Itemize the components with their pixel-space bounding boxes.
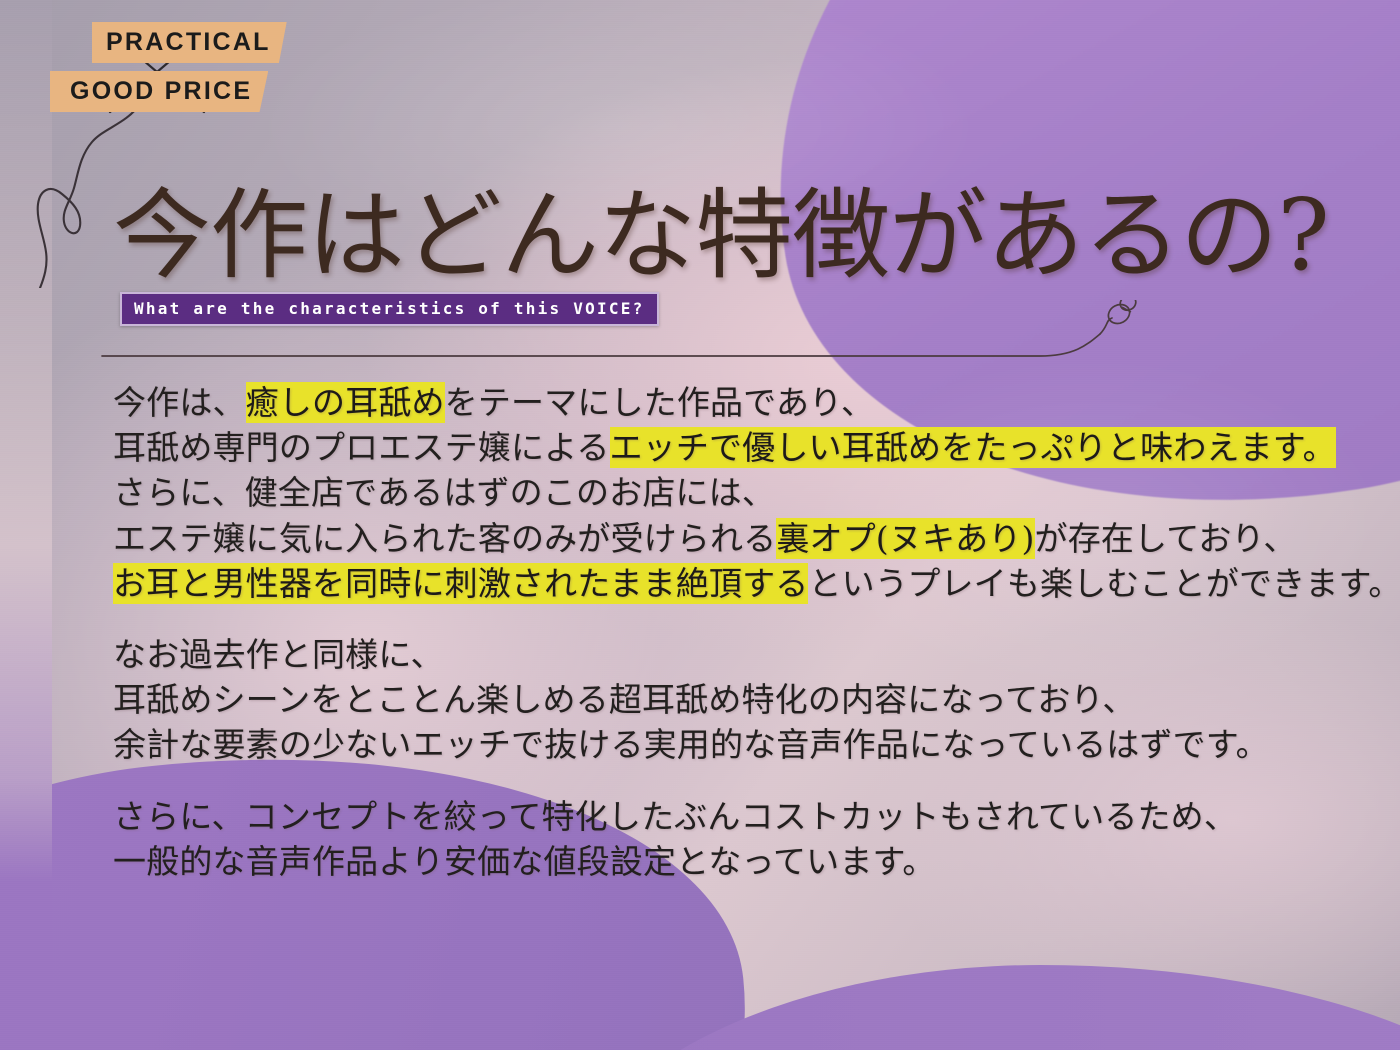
text-line: お耳と男性器を同時に刺激されたまま絶頂するというプレイも楽しむことができます。: [113, 561, 1383, 606]
text-line: さらに、健全店であるはずのこのお店には、: [113, 470, 1383, 515]
paragraph: さらに、コンセプトを絞って特化したぶんコストカットもされているため、一般的な音声…: [113, 794, 1383, 884]
highlighted-text: エッチで優しい耳舐めをたっぷりと味わえます。: [610, 427, 1336, 468]
plain-text: 余計な要素の少ないエッチで抜ける実用的な音声作品になっているはずです。: [113, 725, 1269, 764]
highlighted-text: 癒しの耳舐め: [246, 382, 445, 423]
page-title: 今作はどんな特徴があるの?: [113, 186, 1329, 288]
text-line: 耳舐めシーンをとことん楽しめる超耳舐め特化の内容になっており、: [113, 677, 1383, 722]
highlighted-text: お耳と男性器を同時に刺激されたまま絶頂する: [113, 563, 808, 604]
badge-good-price-label: GOOD PRICE: [50, 71, 268, 112]
badge-good-price: GOOD PRICE: [50, 71, 268, 112]
plain-text: 耳舐め専門のプロエステ嬢による: [113, 428, 610, 467]
plain-text: 耳舐めシーンをとことん楽しめる超耳舐め特化の内容になっており、: [113, 680, 1136, 719]
plain-text: をテーマにした作品であり、: [445, 383, 875, 422]
text-line: 耳舐め専門のプロエステ嬢によるエッチで優しい耳舐めをたっぷりと味わえます。: [113, 425, 1383, 470]
plain-text: が存在しており、: [1035, 519, 1297, 558]
body-copy: 今作は、癒しの耳舐めをテーマにした作品であり、耳舐め専門のプロエステ嬢によるエッ…: [113, 380, 1383, 884]
divider-with-earphone: [100, 300, 1170, 390]
plain-text: さらに、コンセプトを絞って特化したぶんコストカットもされているため、: [113, 797, 1237, 836]
plain-text: 今作は、: [113, 383, 246, 422]
text-line: さらに、コンセプトを絞って特化したぶんコストカットもされているため、: [113, 794, 1383, 839]
text-line: なお過去作と同様に、: [113, 632, 1383, 677]
plain-text: なお過去作と同様に、: [113, 635, 444, 674]
badge-practical-label: PRACTICAL: [92, 22, 287, 63]
highlighted-text: 裏オプ(ヌキあり): [776, 518, 1034, 559]
paragraph: 今作は、癒しの耳舐めをテーマにした作品であり、耳舐め専門のプロエステ嬢によるエッ…: [113, 380, 1383, 606]
text-line: エステ嬢に気に入られた客のみが受けられる裏オプ(ヌキあり)が存在しており、: [113, 516, 1383, 561]
paragraph: なお過去作と同様に、耳舐めシーンをとことん楽しめる超耳舐め特化の内容になっており…: [113, 632, 1383, 768]
promo-badges: PRACTICAL GOOD PRICE: [92, 22, 287, 120]
text-line: 今作は、癒しの耳舐めをテーマにした作品であり、: [113, 380, 1383, 425]
promo-banner: PRACTICAL GOOD PRICE 今作はどんな特徴があるの? What …: [0, 0, 1400, 1050]
plain-text: さらに、健全店であるはずのこのお店には、: [113, 473, 775, 512]
text-line: 一般的な音声作品より安価な値段設定となっています。: [113, 839, 1383, 884]
plain-text: というプレイも楽しむことができます。: [808, 564, 1400, 603]
text-line: 余計な要素の少ないエッチで抜ける実用的な音声作品になっているはずです。: [113, 722, 1383, 767]
badge-practical: PRACTICAL: [92, 22, 287, 63]
earphone-icon: [1100, 300, 1138, 334]
plain-text: 一般的な音声作品より安価な値段設定となっています。: [113, 842, 936, 881]
plain-text: エステ嬢に気に入られた客のみが受けられる: [113, 519, 776, 558]
